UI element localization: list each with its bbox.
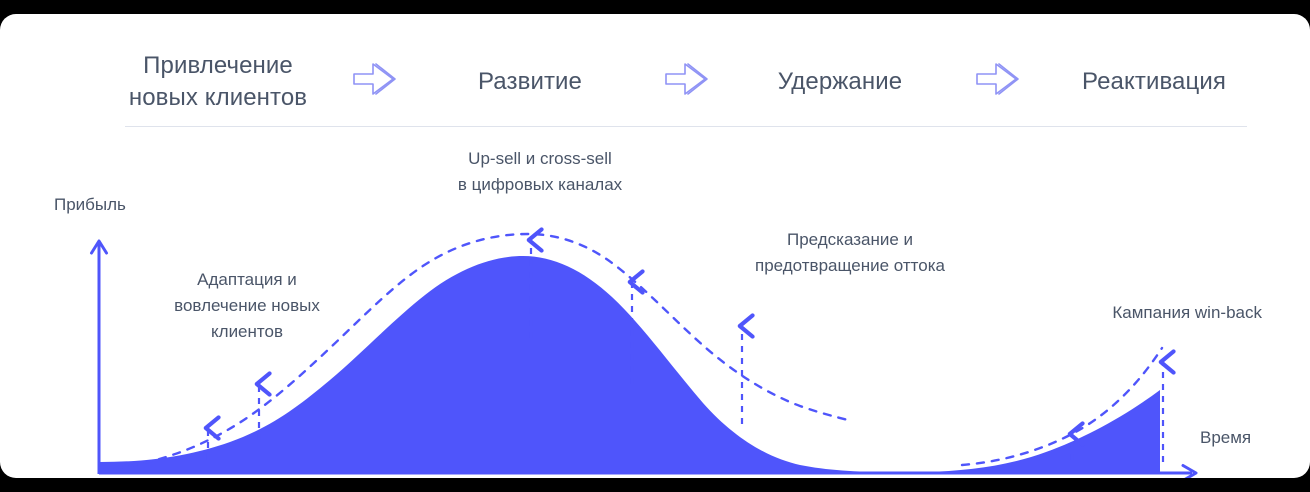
lifecycle-chart: Прибыль Время Адаптация и вовлечение нов… [0, 122, 1310, 478]
annotation-winback: Кампания win-back [1000, 300, 1262, 326]
annotation-onboarding: Адаптация и вовлечение новых клиентов [122, 267, 372, 345]
stage-label-acquisition: Привлечение новых клиентов [120, 50, 316, 114]
stage-label-reactivation: Реактивация [1056, 66, 1252, 98]
arrow-right-icon [663, 59, 709, 99]
lifecycle-infographic-card: Привлечение новых клиентов Развитие Удер… [0, 14, 1310, 478]
y-axis-title: Прибыль [54, 194, 126, 216]
screenshot-root: Привлечение новых клиентов Развитие Удер… [0, 0, 1310, 492]
annotation-churn: Предсказание и предотвращение оттока [710, 227, 990, 279]
x-axis-title: Время [1200, 427, 1251, 449]
stage-header: Привлечение новых клиентов Развитие Удер… [0, 14, 1310, 122]
stage-label-development: Развитие [432, 66, 628, 98]
arrow-right-icon [974, 59, 1020, 99]
arrow-right-icon [351, 59, 397, 99]
stage-label-retention: Удержание [742, 66, 938, 98]
annotation-upsell: Up-sell и cross-sell в цифровых каналах [400, 146, 680, 198]
